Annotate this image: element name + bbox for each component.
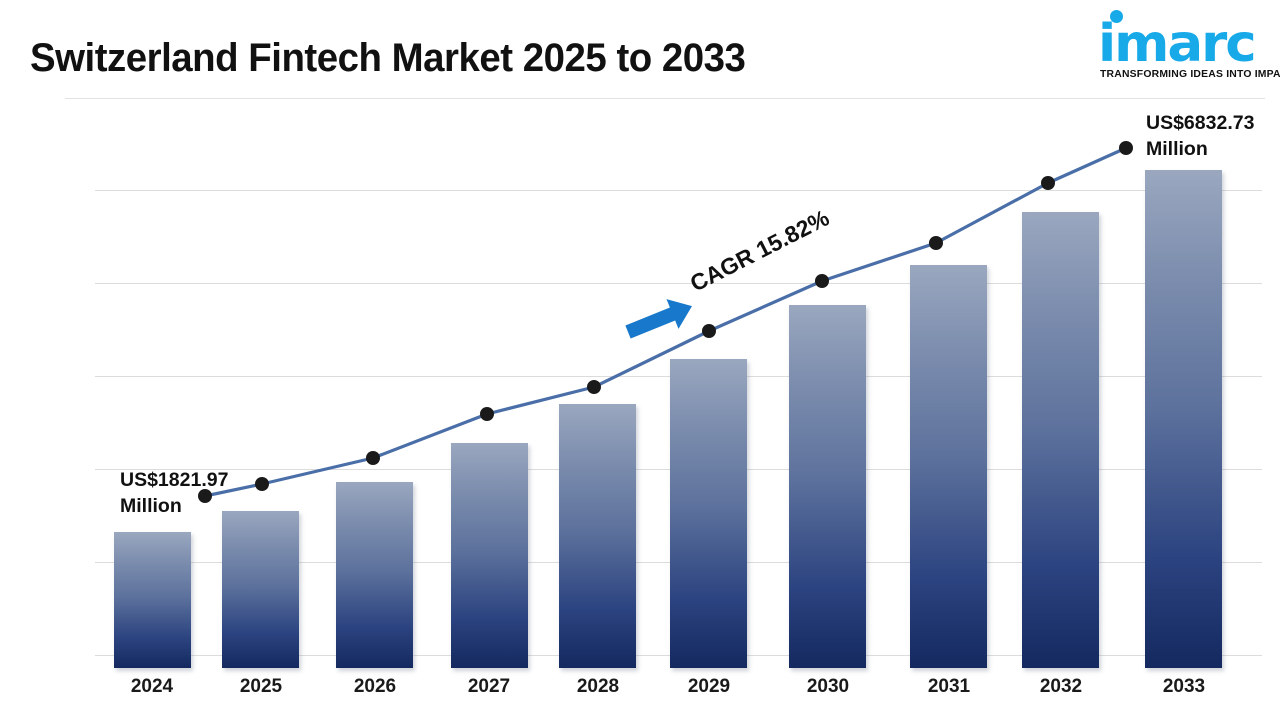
bar-2029[interactable] bbox=[670, 359, 747, 668]
x-axis-label-2030: 2030 bbox=[773, 676, 883, 698]
x-axis-label-2027: 2027 bbox=[434, 676, 544, 698]
callout-start-line1: US$1821.97 bbox=[120, 467, 228, 493]
bar-2024[interactable] bbox=[114, 532, 191, 668]
bar-2031[interactable] bbox=[910, 265, 987, 668]
callout-end: US$6832.73 Million bbox=[1146, 110, 1254, 162]
trend-markers bbox=[198, 141, 1133, 503]
x-axis-label-2025: 2025 bbox=[206, 676, 316, 698]
x-axis-label-2026: 2026 bbox=[320, 676, 430, 698]
bar-2030[interactable] bbox=[789, 305, 866, 668]
gridline bbox=[95, 190, 1262, 191]
bar-2025[interactable] bbox=[222, 511, 299, 668]
cagr-arrow-icon bbox=[622, 291, 698, 347]
x-axis-label-2031: 2031 bbox=[894, 676, 1004, 698]
callout-end-line1: US$6832.73 bbox=[1146, 110, 1254, 136]
callout-start-line2: Million bbox=[120, 493, 228, 519]
x-axis-label-2032: 2032 bbox=[1006, 676, 1116, 698]
chart-page: Switzerland Fintech Market 2025 to 2033 … bbox=[0, 0, 1280, 720]
x-axis-label-2024: 2024 bbox=[97, 676, 207, 698]
x-axis-label-2028: 2028 bbox=[543, 676, 653, 698]
x-axis-label-2029: 2029 bbox=[654, 676, 764, 698]
bar-2028[interactable] bbox=[559, 404, 636, 668]
bar-2032[interactable] bbox=[1022, 212, 1099, 668]
bar-2026[interactable] bbox=[336, 482, 413, 668]
chart-plot-area: US$1821.97 Million US$6832.73 Million CA… bbox=[0, 0, 1280, 720]
x-axis-label-2033: 2033 bbox=[1129, 676, 1239, 698]
bar-2033[interactable] bbox=[1145, 170, 1222, 668]
callout-start: US$1821.97 Million bbox=[120, 467, 228, 519]
callout-end-line2: Million bbox=[1146, 136, 1254, 162]
bar-2027[interactable] bbox=[451, 443, 528, 668]
trend-line bbox=[205, 148, 1126, 496]
